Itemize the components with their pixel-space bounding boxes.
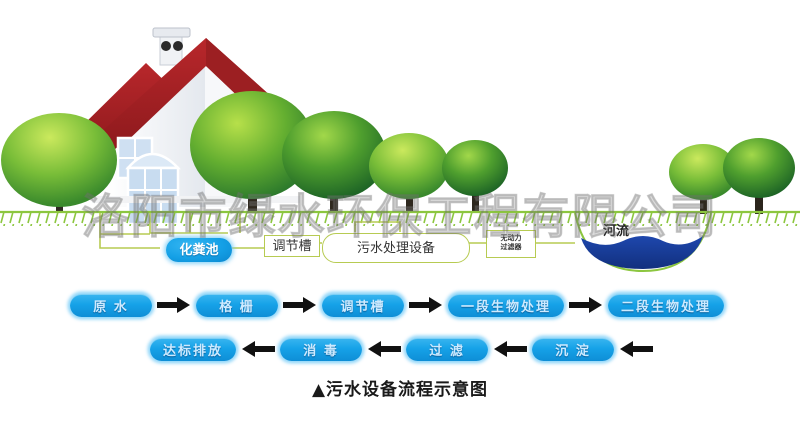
flow-sedimentation[interactable]: 沉 淀 bbox=[532, 338, 614, 361]
passive-filter-line-1: 无动力 bbox=[501, 235, 522, 244]
flow-raw-water[interactable]: 原 水 bbox=[70, 294, 152, 317]
flow-bio-stage-2[interactable]: 二段生物处理 bbox=[608, 294, 724, 317]
flow-bio-stage-1[interactable]: 一段生物处理 bbox=[448, 294, 564, 317]
arrow-left-icon bbox=[236, 336, 280, 362]
arrow-left-icon bbox=[614, 336, 658, 362]
arrow-right-icon bbox=[564, 292, 608, 318]
label-passive-filter: 无动力 过滤器 bbox=[486, 230, 536, 258]
flow-regulating-tank[interactable]: 调节槽 bbox=[322, 294, 404, 317]
screenshot-root: 化粪池 调节槽 污水处理设备 无动力 过滤器 河流 洛阳市绿水环保工程有限公司 … bbox=[0, 0, 800, 433]
arrow-right-icon bbox=[278, 292, 322, 318]
arrow-right-icon bbox=[152, 292, 196, 318]
flow-compliant-discharge[interactable]: 达标排放 bbox=[150, 338, 236, 361]
flow-disinfection[interactable]: 消 毒 bbox=[280, 338, 362, 361]
arrow-left-icon bbox=[488, 336, 532, 362]
arrow-left-icon bbox=[362, 336, 406, 362]
label-regulating-tank: 调节槽 bbox=[264, 235, 320, 257]
label-river: 河流 bbox=[586, 222, 646, 240]
diagram-caption: ▲污水设备流程示意图 bbox=[0, 375, 800, 400]
flow-row-return: 达标排放 消 毒 过 滤 沉 淀 bbox=[0, 332, 800, 366]
passive-filter-line-2: 过滤器 bbox=[501, 244, 522, 253]
process-flow-chart: 原 水 格 栅 调节槽 一段生物处理 二段生物处理 达标排放 消 毒 bbox=[0, 288, 800, 433]
label-sewage-equipment: 污水处理设备 bbox=[322, 233, 470, 263]
illustration-scene: 化粪池 调节槽 污水处理设备 无动力 过滤器 河流 bbox=[0, 0, 800, 285]
flow-filtration[interactable]: 过 滤 bbox=[406, 338, 488, 361]
flow-row-forward: 原 水 格 栅 调节槽 一段生物处理 二段生物处理 bbox=[0, 288, 800, 322]
label-septic-tank: 化粪池 bbox=[166, 238, 232, 262]
arrow-right-icon bbox=[404, 292, 448, 318]
flow-grille[interactable]: 格 栅 bbox=[196, 294, 278, 317]
